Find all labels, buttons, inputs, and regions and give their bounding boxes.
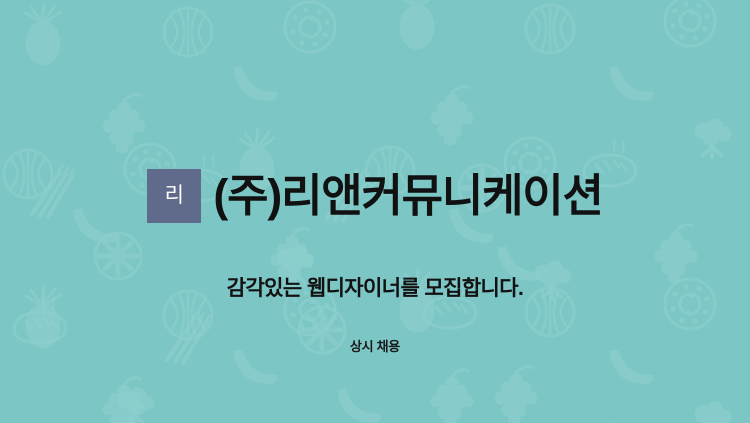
company-title-row: 리 (주)리앤커뮤니케이션 xyxy=(147,142,602,250)
employment-type-label: 상시 채용 xyxy=(350,339,400,355)
banner-content: 리 (주)리앤커뮤니케이션 감각있는 웹디자이너를 모집합니다. 상시 채용 xyxy=(0,0,750,423)
job-headline: 감각있는 웹디자이너를 모집합니다. xyxy=(227,276,524,301)
company-logo-text: 리 xyxy=(165,185,184,206)
job-posting-banner: 리 (주)리앤커뮤니케이션 감각있는 웹디자이너를 모집합니다. 상시 채용 xyxy=(0,0,750,423)
company-name: (주)리앤커뮤니케이션 xyxy=(213,172,602,219)
company-logo-badge: 리 xyxy=(147,169,201,223)
